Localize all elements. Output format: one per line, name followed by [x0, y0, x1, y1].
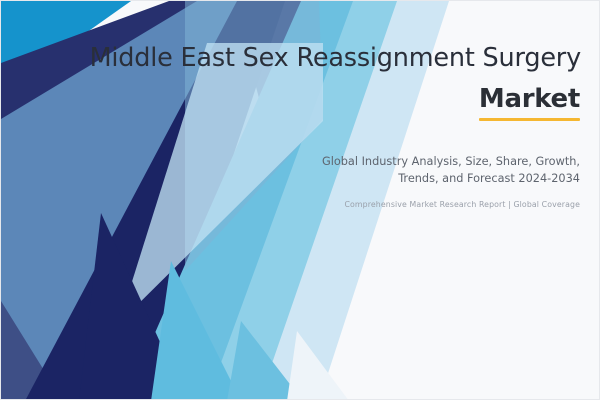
tagline: Comprehensive Market Research Report | G…: [160, 200, 580, 209]
subtitle-line-2: Trends, and Forecast 2024-2034: [160, 170, 580, 187]
report-cover: Middle East Sex Reassignment Surgery Mar…: [0, 0, 600, 400]
subtitle-line-1: Global Industry Analysis, Size, Share, G…: [160, 153, 580, 170]
emphasis-block: Market: [479, 85, 580, 121]
emphasis-word: Market: [479, 85, 580, 114]
accent-underline: [479, 118, 580, 121]
page-title: Middle East Sex Reassignment Surgery: [41, 43, 581, 75]
subtitle: Global Industry Analysis, Size, Share, G…: [160, 153, 580, 187]
cover-text-layer: Middle East Sex Reassignment Surgery Mar…: [1, 1, 600, 400]
